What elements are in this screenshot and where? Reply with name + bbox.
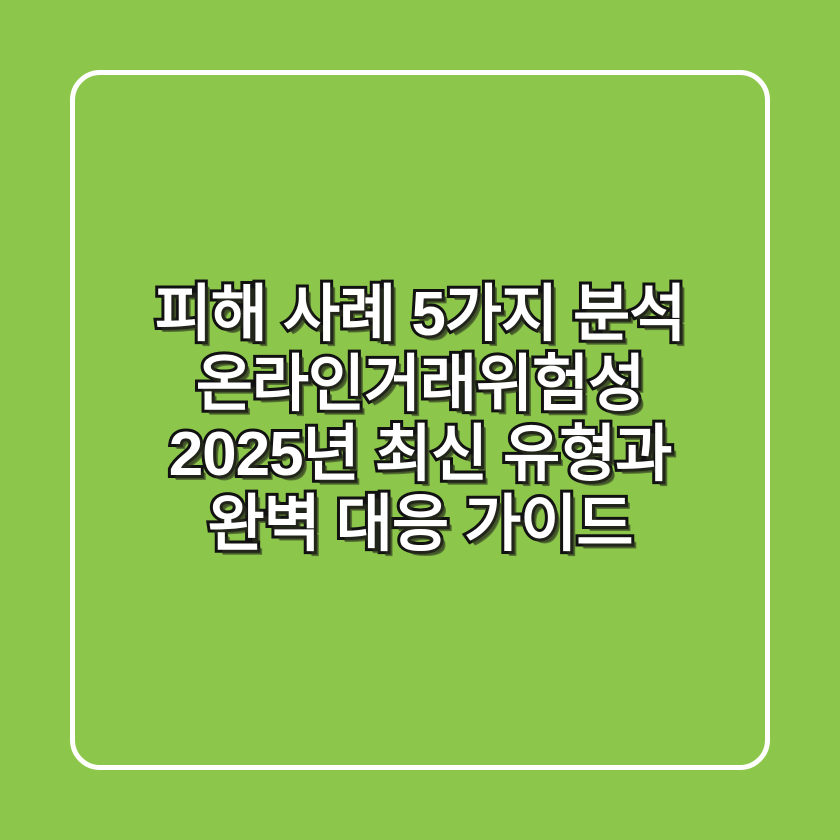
title-line-1: 피해 사례 5가지 분석 [80,280,760,350]
title-line-4: 완벽 대응 가이드 [80,490,760,560]
title-line-2: 온라인거래위험성 [80,350,760,420]
thumbnail-canvas: 피해 사례 5가지 분석 온라인거래위험성 2025년 최신 유형과 완벽 대응… [0,0,840,840]
title-block: 피해 사례 5가지 분석 온라인거래위험성 2025년 최신 유형과 완벽 대응… [0,0,840,840]
title-line-3: 2025년 최신 유형과 [80,420,760,490]
